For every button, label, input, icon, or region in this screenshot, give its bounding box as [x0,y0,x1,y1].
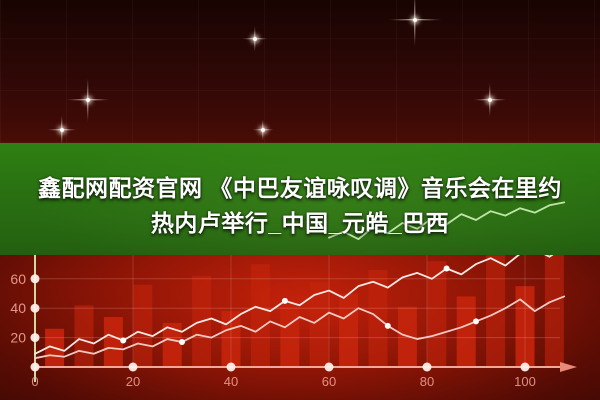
page-title: 鑫配网配资官网 《中巴友谊咏叹调》音乐会在里约热内卢举行_中国_元皓_巴西 [0,171,600,241]
page-title-line-1: 鑫配网配资官网 《中巴友谊咏叹调》音乐会在里约 [38,175,562,201]
poster-canvas: 02040608010020406080100 鑫配网配资官网 《中巴友谊咏叹调… [0,0,600,400]
backdrop-grid-overlay [0,0,600,143]
page-title-line-2: 热内卢举行_中国_元皓_巴西 [151,210,449,236]
